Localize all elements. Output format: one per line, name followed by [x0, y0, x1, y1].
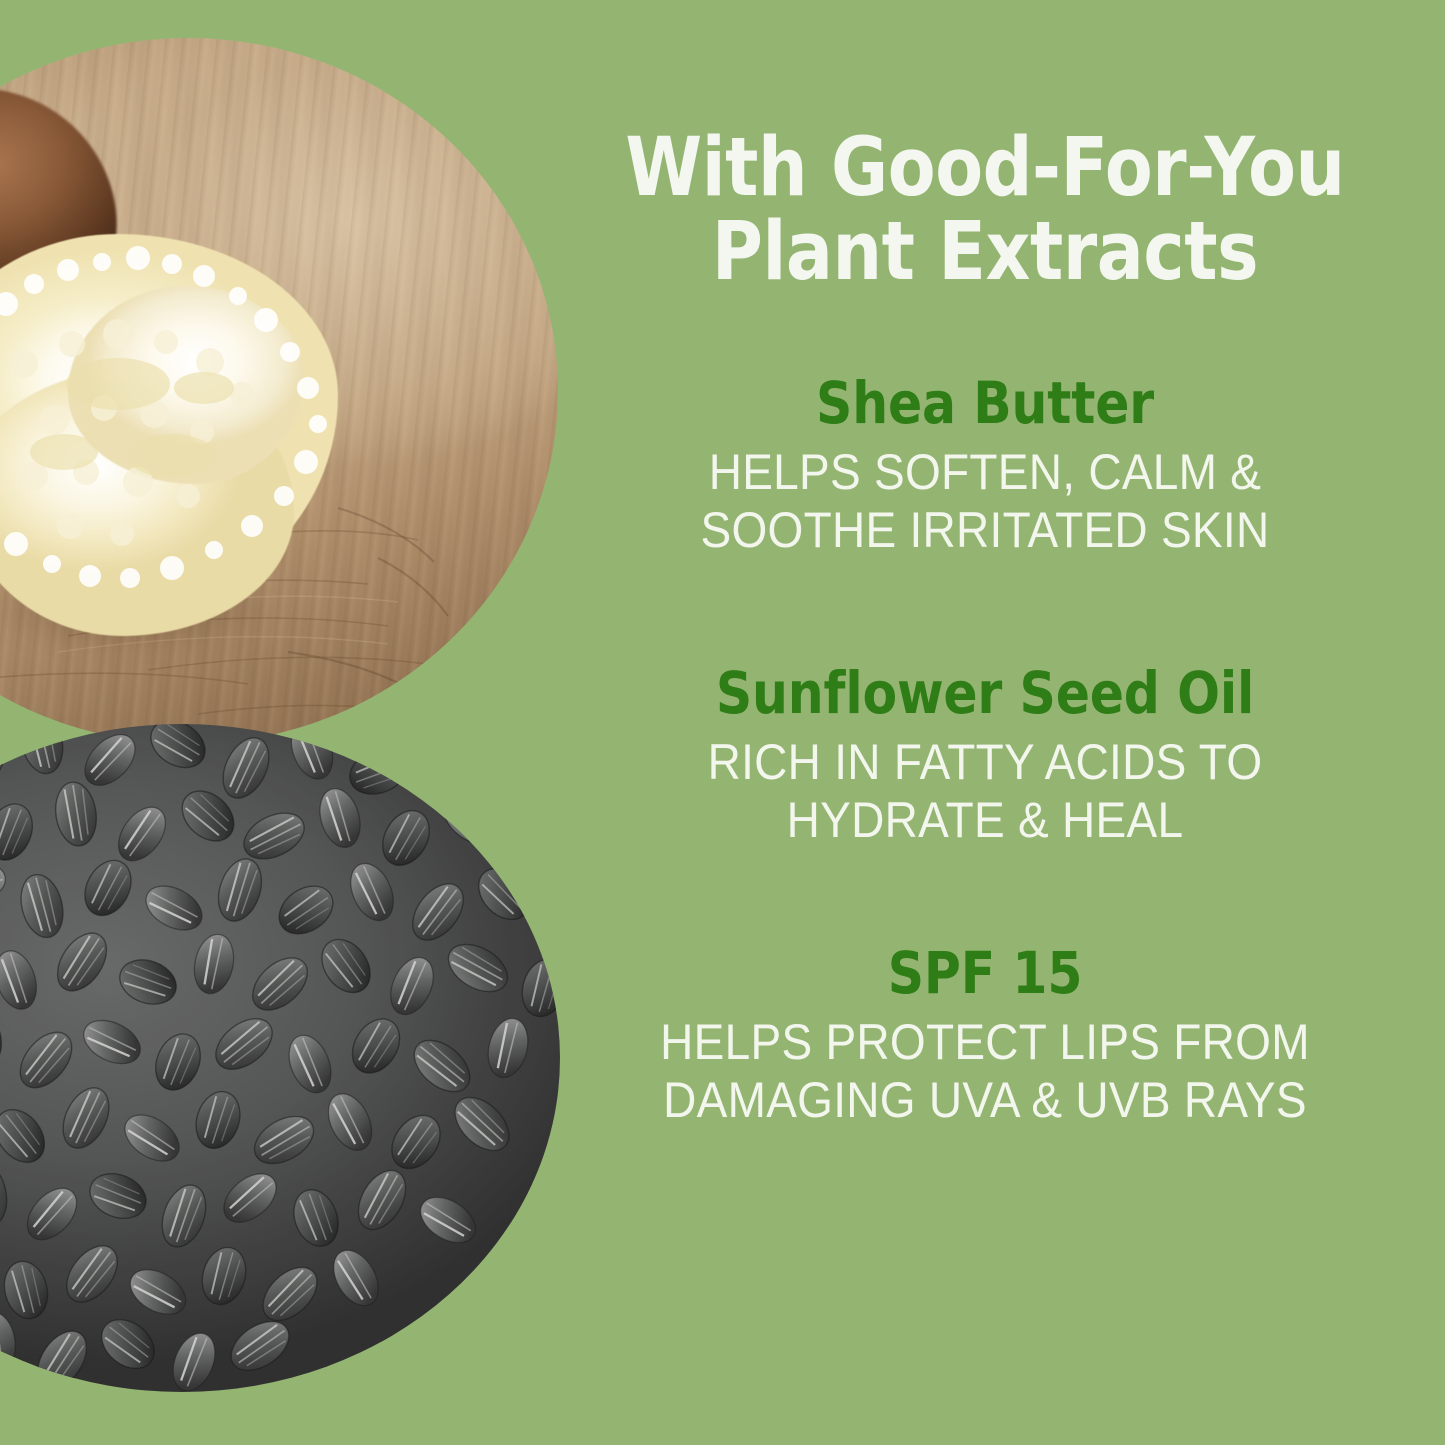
ingredient-block-sunflower-seed-oil: Sunflower Seed Oil RICH IN FATTY ACIDS T…: [560, 662, 1410, 850]
headline-line-1: With Good-For-You: [620, 126, 1351, 210]
ingredient-description-line: HELPS SOFTEN, CALM &: [594, 443, 1376, 502]
ingredient-block-shea-butter: Shea Butter HELPS SOFTEN, CALM & SOOTHE …: [560, 372, 1410, 560]
ingredient-description-line: HELPS PROTECT LIPS FROM: [594, 1013, 1376, 1072]
ingredient-name: Sunflower Seed Oil: [615, 662, 1355, 725]
product-ingredient-infographic: With Good-For-You Plant Extracts Shea Bu…: [0, 0, 1445, 1445]
shea-butter-photo: [0, 38, 558, 744]
ingredient-name: SPF 15: [615, 942, 1355, 1005]
sunflower-seeds-photo: [0, 724, 560, 1392]
ingredient-description: RICH IN FATTY ACIDS TO HYDRATE & HEAL: [594, 733, 1376, 850]
ingredient-description-line: RICH IN FATTY ACIDS TO: [594, 733, 1376, 792]
sunflower-seed-texture: [0, 724, 560, 1392]
ingredient-block-spf-15: SPF 15 HELPS PROTECT LIPS FROM DAMAGING …: [560, 942, 1410, 1130]
ingredient-description: HELPS SOFTEN, CALM & SOOTHE IRRITATED SK…: [594, 443, 1376, 560]
ingredient-description-line: HYDRATE & HEAL: [594, 791, 1376, 850]
page-title: With Good-For-You Plant Extracts: [620, 126, 1351, 294]
headline-line-2: Plant Extracts: [620, 210, 1351, 294]
ingredient-description-line: DAMAGING UVA & UVB RAYS: [594, 1071, 1376, 1130]
ingredient-description: HELPS PROTECT LIPS FROM DAMAGING UVA & U…: [594, 1013, 1376, 1130]
butter-crumb-texture: [0, 224, 352, 624]
copy-column: With Good-For-You Plant Extracts Shea Bu…: [560, 0, 1410, 1445]
ingredient-name: Shea Butter: [615, 372, 1355, 435]
ingredient-description-line: SOOTHE IRRITATED SKIN: [594, 501, 1376, 560]
